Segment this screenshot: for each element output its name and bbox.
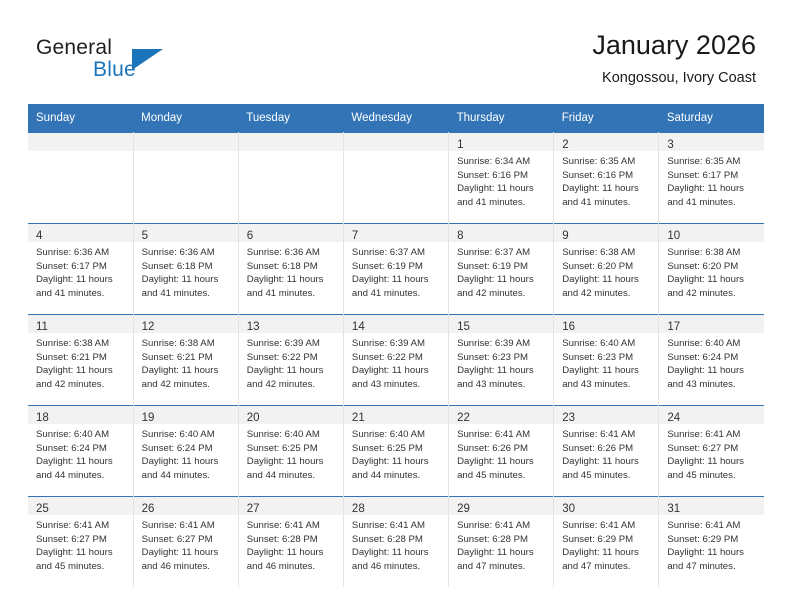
day-number-band	[239, 133, 343, 151]
day-number: 17	[667, 321, 680, 333]
sunrise-text: Sunrise: 6:36 AM	[36, 246, 127, 260]
day-details: Sunrise: 6:41 AMSunset: 6:27 PMDaylight:…	[659, 424, 764, 482]
daylight-text-line1: Daylight: 11 hours	[457, 546, 547, 560]
calendar-day-cell[interactable]: 5Sunrise: 6:36 AMSunset: 6:18 PMDaylight…	[133, 224, 238, 315]
calendar-day-cell[interactable]: 30Sunrise: 6:41 AMSunset: 6:29 PMDayligh…	[554, 497, 659, 588]
title-block: January 2026 Kongossou, Ivory Coast	[592, 28, 756, 88]
daylight-text-line2: and 45 minutes.	[562, 469, 652, 483]
weekday-header-tuesday: Tuesday	[238, 104, 343, 133]
calendar-day-cell[interactable]: 26Sunrise: 6:41 AMSunset: 6:27 PMDayligh…	[133, 497, 238, 588]
sunset-text: Sunset: 6:27 PM	[142, 533, 232, 547]
sunset-text: Sunset: 6:26 PM	[457, 442, 547, 456]
calendar-day-cell[interactable]: 15Sunrise: 6:39 AMSunset: 6:23 PMDayligh…	[449, 315, 554, 406]
sunset-text: Sunset: 6:29 PM	[667, 533, 758, 547]
day-number-band: 9	[554, 224, 658, 242]
daylight-text-line1: Daylight: 11 hours	[457, 182, 547, 196]
sunrise-text: Sunrise: 6:41 AM	[352, 519, 442, 533]
day-details: Sunrise: 6:37 AMSunset: 6:19 PMDaylight:…	[449, 242, 553, 300]
sunrise-text: Sunrise: 6:35 AM	[667, 155, 758, 169]
day-details: Sunrise: 6:38 AMSunset: 6:21 PMDaylight:…	[134, 333, 238, 391]
day-number-band: 26	[134, 497, 238, 515]
calendar-day-cell[interactable]: 7Sunrise: 6:37 AMSunset: 6:19 PMDaylight…	[343, 224, 448, 315]
day-number-band: 19	[134, 406, 238, 424]
day-number-band: 5	[134, 224, 238, 242]
calendar-day-cell[interactable]: 29Sunrise: 6:41 AMSunset: 6:28 PMDayligh…	[449, 497, 554, 588]
daylight-text-line1: Daylight: 11 hours	[352, 455, 442, 469]
day-details: Sunrise: 6:41 AMSunset: 6:29 PMDaylight:…	[554, 515, 658, 573]
daylight-text-line1: Daylight: 11 hours	[247, 273, 337, 287]
daylight-text-line2: and 45 minutes.	[457, 469, 547, 483]
day-details: Sunrise: 6:40 AMSunset: 6:25 PMDaylight:…	[239, 424, 343, 482]
weekday-header-monday: Monday	[133, 104, 238, 133]
day-number-band: 23	[554, 406, 658, 424]
sunset-text: Sunset: 6:24 PM	[667, 351, 758, 365]
sunrise-text: Sunrise: 6:40 AM	[36, 428, 127, 442]
day-details: Sunrise: 6:39 AMSunset: 6:23 PMDaylight:…	[449, 333, 553, 391]
day-number: 25	[36, 503, 49, 515]
calendar-day-cell[interactable]: 4Sunrise: 6:36 AMSunset: 6:17 PMDaylight…	[28, 224, 133, 315]
daylight-text-line1: Daylight: 11 hours	[562, 182, 652, 196]
sunrise-text: Sunrise: 6:38 AM	[562, 246, 652, 260]
day-number-band: 12	[134, 315, 238, 333]
day-number-band: 29	[449, 497, 553, 515]
page-header: General Blue January 2026 Kongossou, Ivo…	[0, 0, 792, 100]
daylight-text-line1: Daylight: 11 hours	[142, 364, 232, 378]
day-details: Sunrise: 6:40 AMSunset: 6:24 PMDaylight:…	[134, 424, 238, 482]
calendar-day-cell[interactable]: 31Sunrise: 6:41 AMSunset: 6:29 PMDayligh…	[659, 497, 764, 588]
day-number: 1	[457, 139, 463, 151]
day-number: 11	[36, 321, 48, 333]
day-number: 6	[247, 230, 253, 242]
day-number: 21	[352, 412, 365, 424]
calendar-grid: Sunday Monday Tuesday Wednesday Thursday…	[28, 104, 764, 587]
calendar-page: General Blue January 2026 Kongossou, Ivo…	[0, 0, 792, 612]
daylight-text-line2: and 47 minutes.	[457, 560, 547, 574]
daylight-text-line2: and 43 minutes.	[352, 378, 442, 392]
day-details: Sunrise: 6:36 AMSunset: 6:17 PMDaylight:…	[28, 242, 133, 300]
day-number: 19	[142, 412, 155, 424]
day-details: Sunrise: 6:41 AMSunset: 6:29 PMDaylight:…	[659, 515, 764, 573]
daylight-text-line2: and 47 minutes.	[667, 560, 758, 574]
daylight-text-line1: Daylight: 11 hours	[667, 455, 758, 469]
daylight-text-line2: and 46 minutes.	[247, 560, 337, 574]
day-number: 15	[457, 321, 470, 333]
sunrise-text: Sunrise: 6:41 AM	[457, 428, 547, 442]
sunrise-text: Sunrise: 6:40 AM	[562, 337, 652, 351]
logo-text-general: General	[36, 36, 112, 60]
day-number: 29	[457, 503, 470, 515]
calendar-week-row: 11Sunrise: 6:38 AMSunset: 6:21 PMDayligh…	[28, 315, 764, 406]
general-blue-logo[interactable]: General Blue	[36, 36, 206, 88]
sunrise-text: Sunrise: 6:41 AM	[457, 519, 547, 533]
day-number-band: 22	[449, 406, 553, 424]
day-number-band: 10	[659, 224, 764, 242]
calendar-week-row: 18Sunrise: 6:40 AMSunset: 6:24 PMDayligh…	[28, 406, 764, 497]
daylight-text-line1: Daylight: 11 hours	[562, 455, 652, 469]
daylight-text-line1: Daylight: 11 hours	[247, 455, 337, 469]
sunrise-text: Sunrise: 6:40 AM	[247, 428, 337, 442]
calendar-day-cell[interactable]: 10Sunrise: 6:38 AMSunset: 6:20 PMDayligh…	[659, 224, 764, 315]
sunset-text: Sunset: 6:24 PM	[36, 442, 127, 456]
daylight-text-line2: and 42 minutes.	[247, 378, 337, 392]
day-number-band: 17	[659, 315, 764, 333]
day-details: Sunrise: 6:40 AMSunset: 6:25 PMDaylight:…	[344, 424, 448, 482]
day-details: Sunrise: 6:40 AMSunset: 6:24 PMDaylight:…	[28, 424, 133, 482]
sunset-text: Sunset: 6:25 PM	[247, 442, 337, 456]
weekday-header-saturday: Saturday	[659, 104, 764, 133]
day-details: Sunrise: 6:36 AMSunset: 6:18 PMDaylight:…	[134, 242, 238, 300]
sunset-text: Sunset: 6:28 PM	[352, 533, 442, 547]
daylight-text-line2: and 42 minutes.	[142, 378, 232, 392]
sunrise-text: Sunrise: 6:39 AM	[352, 337, 442, 351]
day-details: Sunrise: 6:39 AMSunset: 6:22 PMDaylight:…	[239, 333, 343, 391]
sunrise-text: Sunrise: 6:41 AM	[36, 519, 127, 533]
day-details: Sunrise: 6:40 AMSunset: 6:24 PMDaylight:…	[659, 333, 764, 391]
daylight-text-line1: Daylight: 11 hours	[562, 273, 652, 287]
calendar-day-cell[interactable]: 3Sunrise: 6:35 AMSunset: 6:17 PMDaylight…	[659, 133, 764, 224]
day-number-band: 11	[28, 315, 133, 333]
day-number: 4	[36, 230, 42, 242]
sunset-text: Sunset: 6:16 PM	[562, 169, 652, 183]
day-number: 9	[562, 230, 568, 242]
day-details: Sunrise: 6:40 AMSunset: 6:23 PMDaylight:…	[554, 333, 658, 391]
daylight-text-line2: and 43 minutes.	[457, 378, 547, 392]
daylight-text-line2: and 42 minutes.	[562, 287, 652, 301]
sunrise-text: Sunrise: 6:39 AM	[457, 337, 547, 351]
day-details: Sunrise: 6:41 AMSunset: 6:26 PMDaylight:…	[554, 424, 658, 482]
day-number-band: 21	[344, 406, 448, 424]
day-details: Sunrise: 6:38 AMSunset: 6:20 PMDaylight:…	[554, 242, 658, 300]
daylight-text-line2: and 42 minutes.	[457, 287, 547, 301]
sunrise-text: Sunrise: 6:41 AM	[667, 428, 758, 442]
daylight-text-line1: Daylight: 11 hours	[457, 273, 547, 287]
sunset-text: Sunset: 6:17 PM	[667, 169, 758, 183]
sunrise-text: Sunrise: 6:40 AM	[352, 428, 442, 442]
daylight-text-line1: Daylight: 11 hours	[352, 273, 442, 287]
calendar-day-cell[interactable]: 9Sunrise: 6:38 AMSunset: 6:20 PMDaylight…	[554, 224, 659, 315]
day-details: Sunrise: 6:41 AMSunset: 6:27 PMDaylight:…	[134, 515, 238, 573]
daylight-text-line2: and 41 minutes.	[457, 196, 547, 210]
daylight-text-line2: and 44 minutes.	[142, 469, 232, 483]
day-details: Sunrise: 6:35 AMSunset: 6:16 PMDaylight:…	[554, 151, 658, 209]
day-number-band: 8	[449, 224, 553, 242]
day-number: 30	[562, 503, 575, 515]
sunset-text: Sunset: 6:17 PM	[36, 260, 127, 274]
daylight-text-line2: and 44 minutes.	[247, 469, 337, 483]
weekday-header-wednesday: Wednesday	[343, 104, 448, 133]
sunrise-text: Sunrise: 6:41 AM	[562, 428, 652, 442]
day-details: Sunrise: 6:41 AMSunset: 6:28 PMDaylight:…	[344, 515, 448, 573]
day-number-band	[28, 133, 133, 151]
sunset-text: Sunset: 6:20 PM	[667, 260, 758, 274]
calendar-cell-empty	[133, 133, 238, 224]
day-number: 13	[247, 321, 260, 333]
day-number-band	[134, 133, 238, 151]
sunset-text: Sunset: 6:20 PM	[562, 260, 652, 274]
daylight-text-line2: and 41 minutes.	[562, 196, 652, 210]
daylight-text-line2: and 42 minutes.	[36, 378, 127, 392]
location-subtitle: Kongossou, Ivory Coast	[592, 68, 756, 88]
calendar-day-cell[interactable]: 28Sunrise: 6:41 AMSunset: 6:28 PMDayligh…	[343, 497, 448, 588]
day-details: Sunrise: 6:41 AMSunset: 6:27 PMDaylight:…	[28, 515, 133, 573]
daylight-text-line2: and 43 minutes.	[562, 378, 652, 392]
calendar-day-cell[interactable]: 12Sunrise: 6:38 AMSunset: 6:21 PMDayligh…	[133, 315, 238, 406]
sunrise-text: Sunrise: 6:36 AM	[247, 246, 337, 260]
calendar-day-cell[interactable]: 17Sunrise: 6:40 AMSunset: 6:24 PMDayligh…	[659, 315, 764, 406]
sunset-text: Sunset: 6:23 PM	[457, 351, 547, 365]
sunset-text: Sunset: 6:26 PM	[562, 442, 652, 456]
sunset-text: Sunset: 6:19 PM	[352, 260, 442, 274]
day-number-band: 14	[344, 315, 448, 333]
day-number-band: 7	[344, 224, 448, 242]
weekday-header-row: Sunday Monday Tuesday Wednesday Thursday…	[28, 104, 764, 133]
sunrise-text: Sunrise: 6:38 AM	[36, 337, 127, 351]
day-number-band: 27	[239, 497, 343, 515]
calendar-day-cell[interactable]: 20Sunrise: 6:40 AMSunset: 6:25 PMDayligh…	[238, 406, 343, 497]
calendar-day-cell[interactable]: 22Sunrise: 6:41 AMSunset: 6:26 PMDayligh…	[449, 406, 554, 497]
day-number: 18	[36, 412, 49, 424]
weekday-header-sunday: Sunday	[28, 104, 133, 133]
sunrise-text: Sunrise: 6:35 AM	[562, 155, 652, 169]
day-details: Sunrise: 6:41 AMSunset: 6:28 PMDaylight:…	[239, 515, 343, 573]
daylight-text-line1: Daylight: 11 hours	[562, 546, 652, 560]
daylight-text-line1: Daylight: 11 hours	[142, 455, 232, 469]
calendar-day-cell[interactable]: 11Sunrise: 6:38 AMSunset: 6:21 PMDayligh…	[28, 315, 133, 406]
daylight-text-line2: and 42 minutes.	[667, 287, 758, 301]
daylight-text-line1: Daylight: 11 hours	[667, 546, 758, 560]
day-number: 24	[667, 412, 680, 424]
daylight-text-line2: and 46 minutes.	[142, 560, 232, 574]
day-number-band: 6	[239, 224, 343, 242]
calendar-day-cell[interactable]: 18Sunrise: 6:40 AMSunset: 6:24 PMDayligh…	[28, 406, 133, 497]
day-details: Sunrise: 6:36 AMSunset: 6:18 PMDaylight:…	[239, 242, 343, 300]
daylight-text-line2: and 45 minutes.	[36, 560, 127, 574]
sunrise-text: Sunrise: 6:37 AM	[352, 246, 442, 260]
calendar-cell-empty	[238, 133, 343, 224]
day-number: 8	[457, 230, 463, 242]
sunrise-text: Sunrise: 6:38 AM	[667, 246, 758, 260]
calendar-day-cell[interactable]: 25Sunrise: 6:41 AMSunset: 6:27 PMDayligh…	[28, 497, 133, 588]
day-number: 14	[352, 321, 365, 333]
calendar-cell-empty	[343, 133, 448, 224]
calendar-day-cell[interactable]: 2Sunrise: 6:35 AMSunset: 6:16 PMDaylight…	[554, 133, 659, 224]
day-number-band: 20	[239, 406, 343, 424]
sunset-text: Sunset: 6:24 PM	[142, 442, 232, 456]
day-number-band: 24	[659, 406, 764, 424]
sunrise-text: Sunrise: 6:41 AM	[562, 519, 652, 533]
sunrise-text: Sunrise: 6:41 AM	[667, 519, 758, 533]
daylight-text-line2: and 47 minutes.	[562, 560, 652, 574]
sunset-text: Sunset: 6:28 PM	[247, 533, 337, 547]
calendar-day-cell[interactable]: 23Sunrise: 6:41 AMSunset: 6:26 PMDayligh…	[554, 406, 659, 497]
day-number-band: 16	[554, 315, 658, 333]
daylight-text-line1: Daylight: 11 hours	[247, 364, 337, 378]
calendar-day-cell[interactable]: 21Sunrise: 6:40 AMSunset: 6:25 PMDayligh…	[343, 406, 448, 497]
day-number-band: 15	[449, 315, 553, 333]
day-details: Sunrise: 6:34 AMSunset: 6:16 PMDaylight:…	[449, 151, 553, 209]
sunset-text: Sunset: 6:23 PM	[562, 351, 652, 365]
daylight-text-line1: Daylight: 11 hours	[562, 364, 652, 378]
sunset-text: Sunset: 6:18 PM	[142, 260, 232, 274]
sunrise-text: Sunrise: 6:36 AM	[142, 246, 232, 260]
day-number-band: 25	[28, 497, 133, 515]
day-number-band: 13	[239, 315, 343, 333]
calendar-day-cell[interactable]: 27Sunrise: 6:41 AMSunset: 6:28 PMDayligh…	[238, 497, 343, 588]
day-number: 22	[457, 412, 470, 424]
day-details: Sunrise: 6:39 AMSunset: 6:22 PMDaylight:…	[344, 333, 448, 391]
daylight-text-line1: Daylight: 11 hours	[36, 273, 127, 287]
sunset-text: Sunset: 6:27 PM	[36, 533, 127, 547]
daylight-text-line1: Daylight: 11 hours	[142, 546, 232, 560]
logo-text-blue: Blue	[93, 58, 136, 82]
sunset-text: Sunset: 6:22 PM	[247, 351, 337, 365]
calendar-cell-empty	[28, 133, 133, 224]
day-number: 26	[142, 503, 155, 515]
day-number-band: 18	[28, 406, 133, 424]
sunset-text: Sunset: 6:21 PM	[142, 351, 232, 365]
sunrise-text: Sunrise: 6:40 AM	[142, 428, 232, 442]
sunrise-text: Sunrise: 6:38 AM	[142, 337, 232, 351]
daylight-text-line1: Daylight: 11 hours	[667, 273, 758, 287]
calendar-week-row: 4Sunrise: 6:36 AMSunset: 6:17 PMDaylight…	[28, 224, 764, 315]
day-number: 2	[562, 139, 568, 151]
day-number-band: 30	[554, 497, 658, 515]
day-number: 5	[142, 230, 148, 242]
calendar-week-row: 1Sunrise: 6:34 AMSunset: 6:16 PMDaylight…	[28, 133, 764, 224]
day-number-band: 31	[659, 497, 764, 515]
day-details: Sunrise: 6:41 AMSunset: 6:26 PMDaylight:…	[449, 424, 553, 482]
calendar-day-cell[interactable]: 13Sunrise: 6:39 AMSunset: 6:22 PMDayligh…	[238, 315, 343, 406]
day-number: 23	[562, 412, 575, 424]
daylight-text-line1: Daylight: 11 hours	[457, 455, 547, 469]
day-details: Sunrise: 6:38 AMSunset: 6:21 PMDaylight:…	[28, 333, 133, 391]
day-number: 10	[667, 230, 680, 242]
day-number-band	[344, 133, 448, 151]
daylight-text-line1: Daylight: 11 hours	[36, 364, 127, 378]
calendar-day-cell[interactable]: 8Sunrise: 6:37 AMSunset: 6:19 PMDaylight…	[449, 224, 554, 315]
day-details: Sunrise: 6:37 AMSunset: 6:19 PMDaylight:…	[344, 242, 448, 300]
sunset-text: Sunset: 6:22 PM	[352, 351, 442, 365]
daylight-text-line1: Daylight: 11 hours	[457, 364, 547, 378]
daylight-text-line1: Daylight: 11 hours	[247, 546, 337, 560]
sunrise-text: Sunrise: 6:40 AM	[667, 337, 758, 351]
day-number: 28	[352, 503, 365, 515]
daylight-text-line1: Daylight: 11 hours	[667, 364, 758, 378]
daylight-text-line1: Daylight: 11 hours	[142, 273, 232, 287]
day-number-band: 1	[449, 133, 553, 151]
day-number-band: 4	[28, 224, 133, 242]
day-number-band: 3	[659, 133, 764, 151]
daylight-text-line1: Daylight: 11 hours	[352, 364, 442, 378]
daylight-text-line1: Daylight: 11 hours	[36, 455, 127, 469]
sunset-text: Sunset: 6:29 PM	[562, 533, 652, 547]
sunrise-text: Sunrise: 6:34 AM	[457, 155, 547, 169]
daylight-text-line2: and 43 minutes.	[667, 378, 758, 392]
sunset-text: Sunset: 6:28 PM	[457, 533, 547, 547]
calendar-day-cell[interactable]: 24Sunrise: 6:41 AMSunset: 6:27 PMDayligh…	[659, 406, 764, 497]
weekday-header-thursday: Thursday	[449, 104, 554, 133]
logo-triangle-icon	[132, 49, 163, 70]
day-number: 20	[247, 412, 260, 424]
sunrise-text: Sunrise: 6:41 AM	[142, 519, 232, 533]
day-number: 31	[667, 503, 680, 515]
calendar-day-cell[interactable]: 14Sunrise: 6:39 AMSunset: 6:22 PMDayligh…	[343, 315, 448, 406]
weekday-header-friday: Friday	[554, 104, 659, 133]
page-title: January 2026	[592, 28, 756, 62]
daylight-text-line2: and 44 minutes.	[352, 469, 442, 483]
day-number: 3	[667, 139, 673, 151]
calendar-day-cell[interactable]: 1Sunrise: 6:34 AMSunset: 6:16 PMDaylight…	[449, 133, 554, 224]
day-number: 16	[562, 321, 575, 333]
calendar-week-row: 25Sunrise: 6:41 AMSunset: 6:27 PMDayligh…	[28, 497, 764, 588]
sunrise-text: Sunrise: 6:37 AM	[457, 246, 547, 260]
calendar-day-cell[interactable]: 16Sunrise: 6:40 AMSunset: 6:23 PMDayligh…	[554, 315, 659, 406]
sunrise-text: Sunrise: 6:39 AM	[247, 337, 337, 351]
sunset-text: Sunset: 6:16 PM	[457, 169, 547, 183]
sunset-text: Sunset: 6:25 PM	[352, 442, 442, 456]
calendar-day-cell[interactable]: 19Sunrise: 6:40 AMSunset: 6:24 PMDayligh…	[133, 406, 238, 497]
daylight-text-line1: Daylight: 11 hours	[36, 546, 127, 560]
daylight-text-line1: Daylight: 11 hours	[352, 546, 442, 560]
daylight-text-line2: and 41 minutes.	[352, 287, 442, 301]
sunrise-text: Sunrise: 6:41 AM	[247, 519, 337, 533]
day-number: 7	[352, 230, 358, 242]
day-number: 27	[247, 503, 260, 515]
daylight-text-line2: and 41 minutes.	[36, 287, 127, 301]
sunset-text: Sunset: 6:19 PM	[457, 260, 547, 274]
daylight-text-line2: and 41 minutes.	[142, 287, 232, 301]
daylight-text-line2: and 41 minutes.	[247, 287, 337, 301]
day-details: Sunrise: 6:35 AMSunset: 6:17 PMDaylight:…	[659, 151, 764, 209]
day-details: Sunrise: 6:38 AMSunset: 6:20 PMDaylight:…	[659, 242, 764, 300]
sunset-text: Sunset: 6:21 PM	[36, 351, 127, 365]
daylight-text-line1: Daylight: 11 hours	[667, 182, 758, 196]
daylight-text-line2: and 44 minutes.	[36, 469, 127, 483]
daylight-text-line2: and 41 minutes.	[667, 196, 758, 210]
day-number-band: 28	[344, 497, 448, 515]
daylight-text-line2: and 45 minutes.	[667, 469, 758, 483]
day-details: Sunrise: 6:41 AMSunset: 6:28 PMDaylight:…	[449, 515, 553, 573]
daylight-text-line2: and 46 minutes.	[352, 560, 442, 574]
day-number: 12	[142, 321, 155, 333]
calendar-body: 1Sunrise: 6:34 AMSunset: 6:16 PMDaylight…	[28, 133, 764, 588]
sunset-text: Sunset: 6:27 PM	[667, 442, 758, 456]
day-number-band: 2	[554, 133, 658, 151]
calendar-day-cell[interactable]: 6Sunrise: 6:36 AMSunset: 6:18 PMDaylight…	[238, 224, 343, 315]
sunset-text: Sunset: 6:18 PM	[247, 260, 337, 274]
